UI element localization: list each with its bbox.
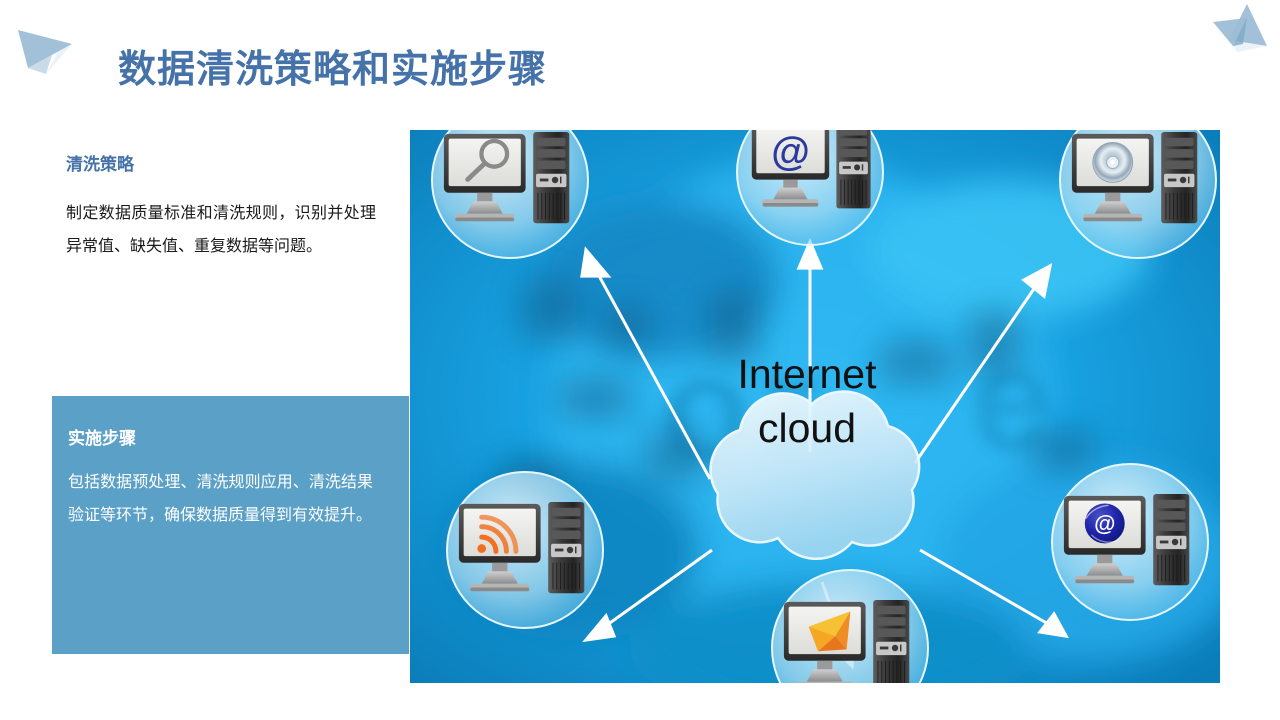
node-bottom-left [447,472,603,628]
illustration-internet-cloud: o r e [410,130,1220,683]
paper-plane-top-left-icon [0,8,110,88]
node-bottom-right: @ [1052,464,1208,620]
at-sign-globe-icon: @ [1085,504,1125,544]
svg-text:e: e [970,314,1053,482]
slide-root: 数据清洗策略和实施步骤 清洗策略 制定数据质量标准和清洗规则，识别并处理异常值、… [0,0,1280,720]
svg-text:@: @ [1094,511,1115,536]
block-steps-heading: 实施步骤 [68,424,136,449]
block-strategy-body: 制定数据质量标准和清洗规则，识别并处理异常值、缺失值、重复数据等问题。 [66,197,376,263]
compact-disc-icon [1093,142,1133,182]
paper-plane-top-right-icon [1185,0,1280,70]
text-block-strategy: 清洗策略 制定数据质量标准和清洗规则，识别并处理异常值、缺失值、重复数据等问题。 [66,150,376,263]
block-strategy-heading: 清洗策略 [66,150,376,175]
page-title: 数据清洗策略和实施步骤 [118,38,547,93]
cloud-label-line2: cloud [758,405,856,451]
at-sign-icon: @ [771,130,810,173]
block-steps-body: 包括数据预处理、清洗规则应用、清洗结果验证等环节，确保数据质量得到有效提升。 [68,466,373,532]
cloud-label-line1: Internet [737,351,877,397]
text-block-steps-panel: 实施步骤 包括数据预处理、清洗规则应用、清洗结果验证等环节，确保数据质量得到有效… [52,396,409,654]
